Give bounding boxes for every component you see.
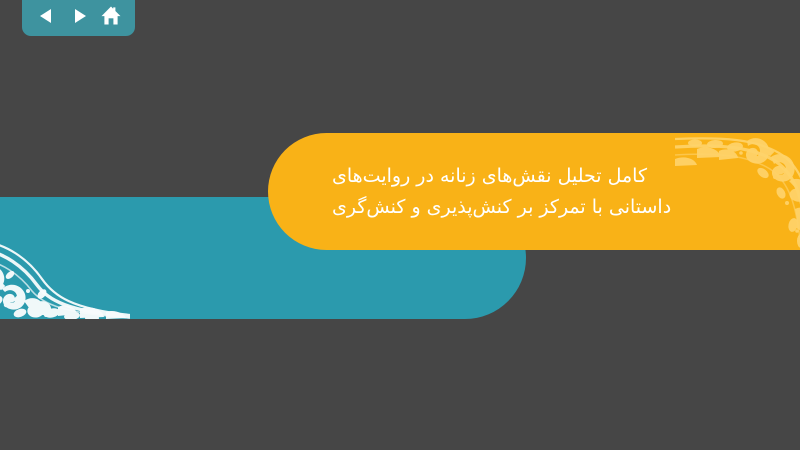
title-line-2: داستانی با تمرکز بر کنش‌پذیری و کنش‌گری: [332, 192, 671, 223]
arabesque-floral-ornament: [0, 197, 130, 319]
presentation-slide: کامل تحلیل نقش‌های زنانه در روایت‌های دا…: [0, 0, 800, 450]
navigation-bar: [22, 0, 135, 36]
title-banner: کامل تحلیل نقش‌های زنانه در روایت‌های دا…: [268, 133, 800, 250]
forward-button[interactable]: [66, 3, 92, 29]
home-button[interactable]: [98, 3, 124, 29]
home-icon: [100, 5, 122, 27]
back-triangle-icon: [36, 6, 56, 26]
slide-title: کامل تحلیل نقش‌های زنانه در روایت‌های دا…: [332, 133, 712, 250]
back-button[interactable]: [33, 3, 59, 29]
title-line-1: کامل تحلیل نقش‌های زنانه در روایت‌های: [332, 161, 647, 192]
forward-triangle-icon: [69, 6, 89, 26]
